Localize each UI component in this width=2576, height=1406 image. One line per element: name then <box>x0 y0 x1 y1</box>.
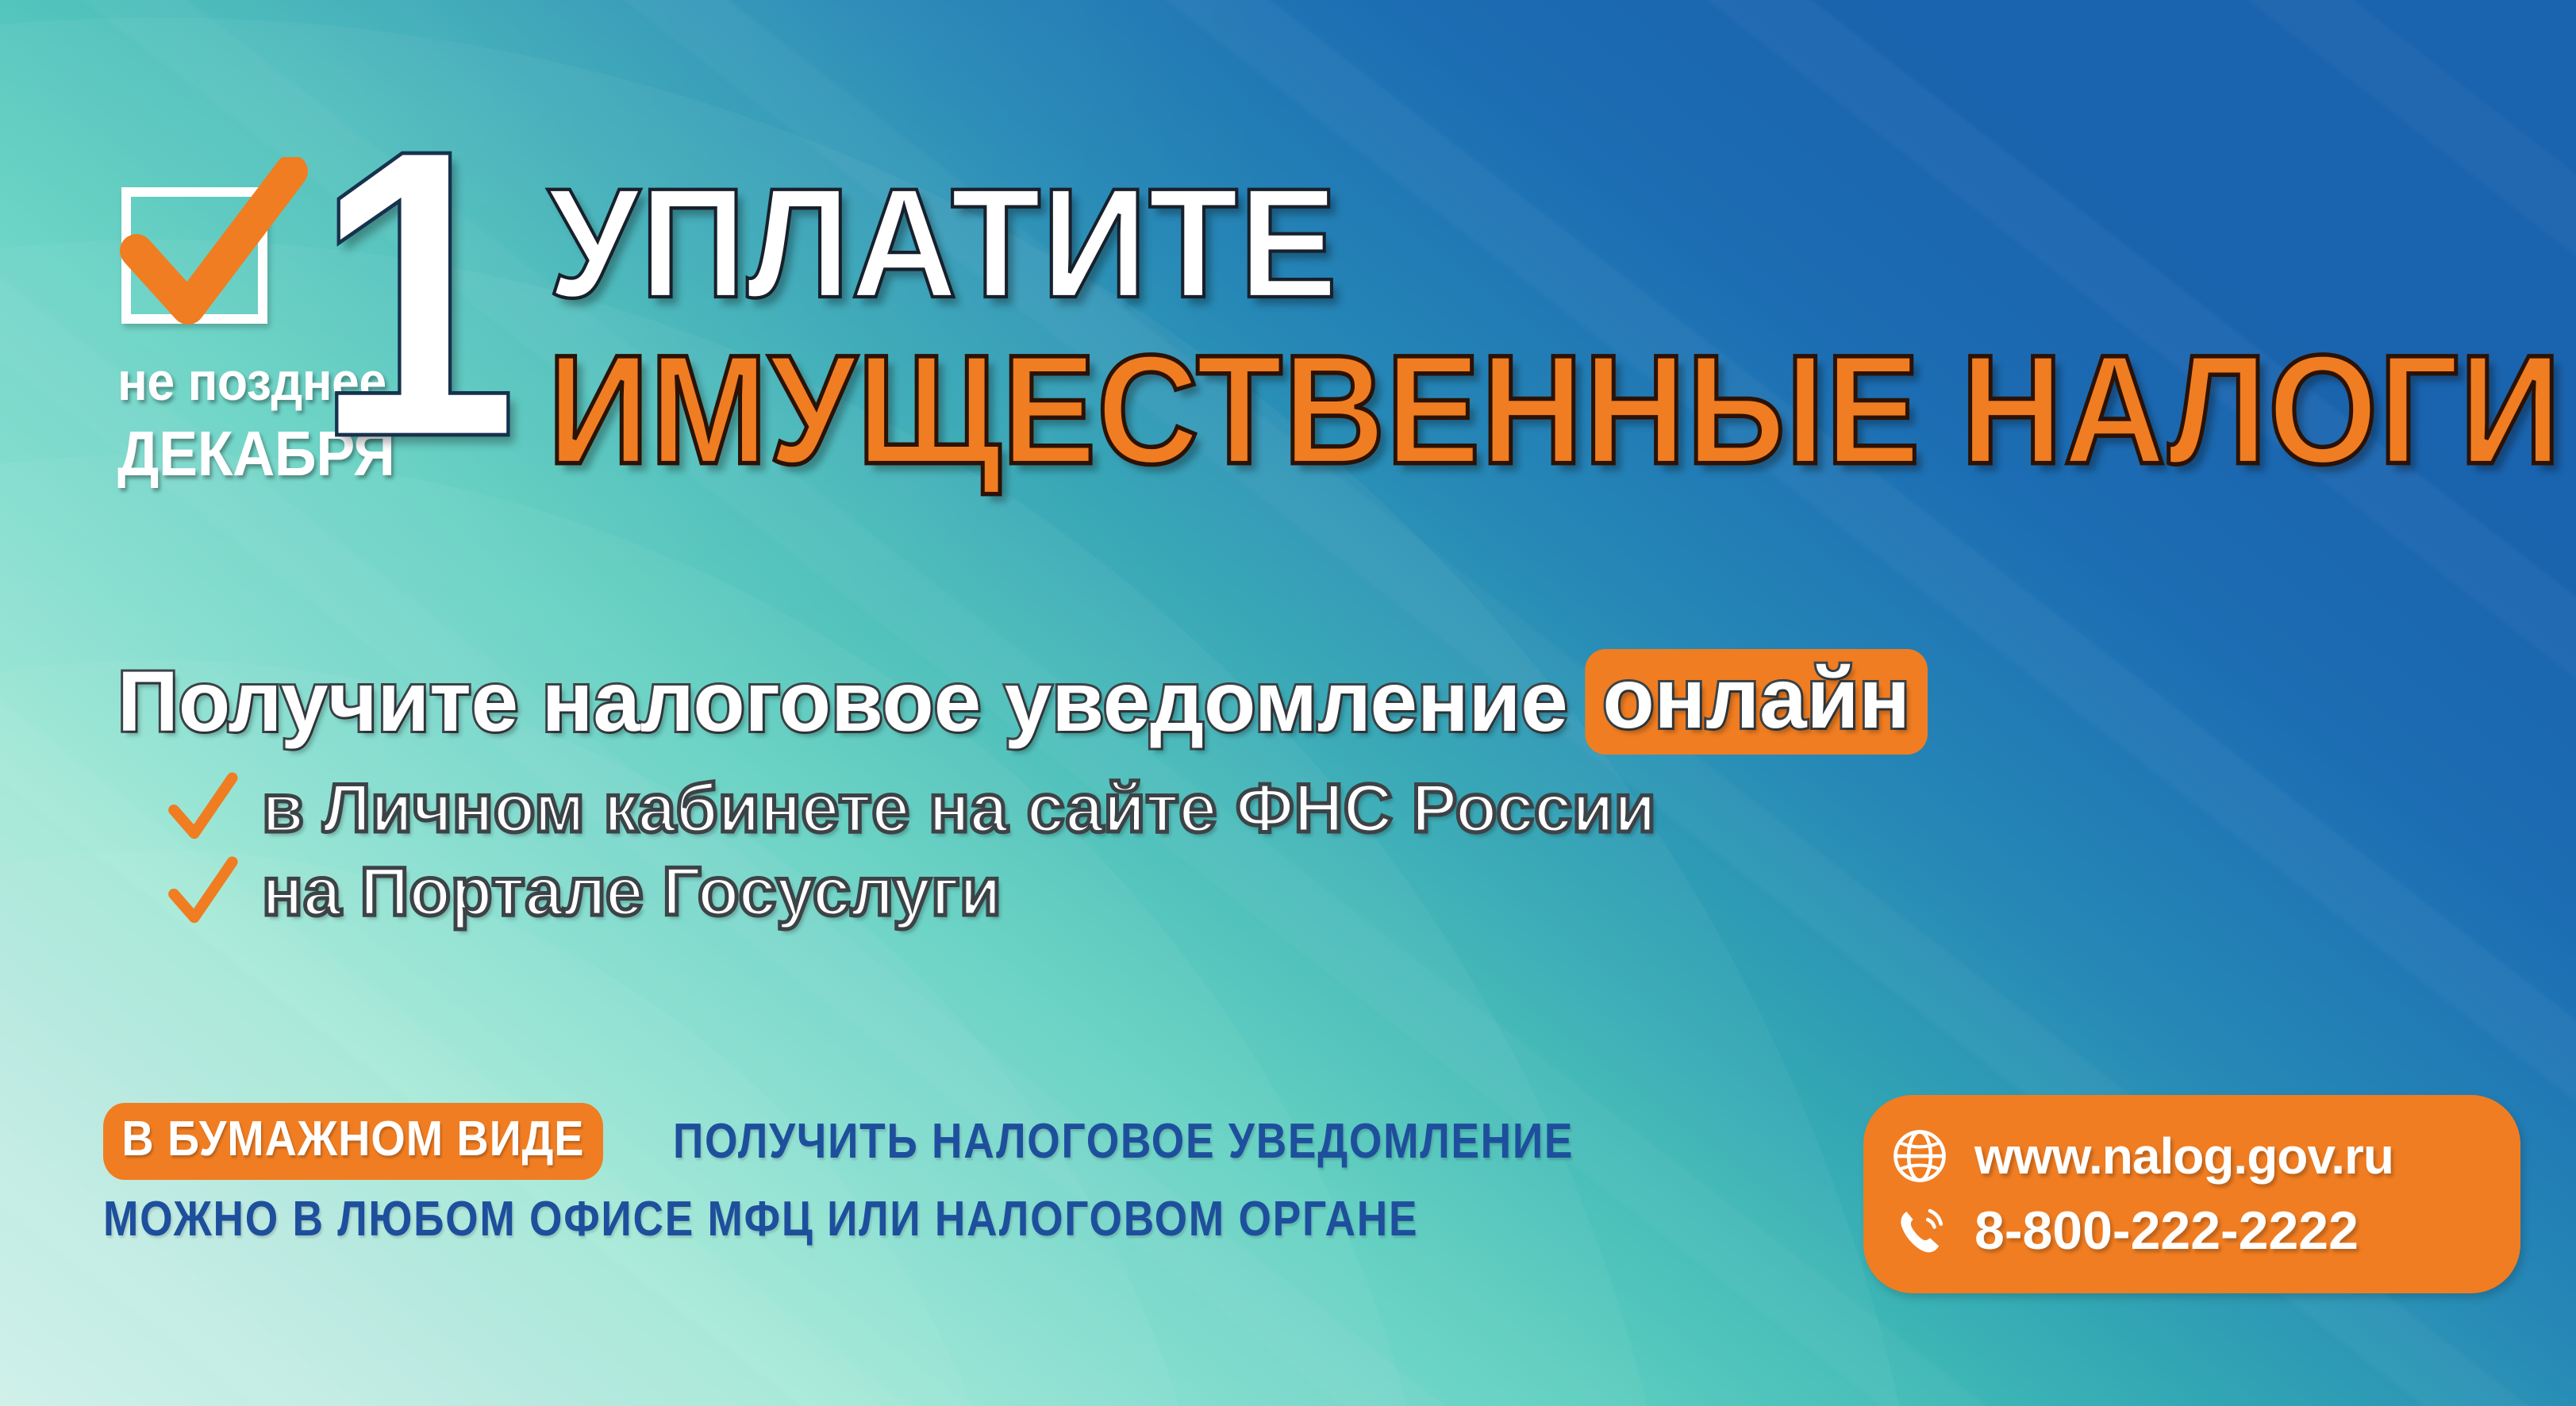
headline-line-property-taxes: ИМУЩЕСТВЕННЫЕ НАЛОГИ <box>548 336 2562 485</box>
orange-checkmark-icon <box>113 157 311 332</box>
headline-block: УПЛАТИТЕ ИМУЩЕСТВЕННЫЕ НАЛОГИ <box>548 168 2562 471</box>
list-item: в Личном кабинете на сайте ФНС России <box>165 769 1946 849</box>
check-icon <box>165 772 238 845</box>
contact-website-row[interactable]: www.nalog.gov.ru <box>1890 1127 2493 1185</box>
check-icon <box>165 856 238 929</box>
online-badge: онлайн <box>1586 649 1928 755</box>
contact-phone-row[interactable]: 8-800-222-2222 <box>1890 1200 2493 1262</box>
list-item-label: на Портале Госуслуги <box>262 852 1002 932</box>
list-item-label: в Личном кабинете на сайте ФНС России <box>262 769 1656 849</box>
contact-phone-label: 8-800-222-2222 <box>1974 1200 2359 1262</box>
online-channels-list: в Личном кабинете на сайте ФНС России на… <box>165 769 1946 933</box>
paper-form-badge: В БУМАЖНОМ ВИДЕ <box>103 1103 603 1180</box>
online-notice-lead-text: Получите налоговое уведомление <box>117 655 1568 748</box>
phone-call-icon <box>1890 1201 1949 1260</box>
list-item: на Портале Госуслуги <box>165 852 1946 932</box>
contact-website-label: www.nalog.gov.ru <box>1974 1127 2393 1185</box>
online-notice-block: Получите налоговое уведомление онлайн в … <box>117 649 1946 933</box>
tax-payment-poster: не позднее ДЕКАБРЯ 1 УПЛАТИТЕ ИМУЩЕСТВЕН… <box>0 0 2576 1406</box>
deadline-month-number: 1 <box>313 135 518 454</box>
paper-notice-line-2: МОЖНО В ЛЮБОМ ОФИСЕ МФЦ ИЛИ НАЛОГОВОМ ОР… <box>103 1191 1418 1247</box>
paper-notice-block: В БУМАЖНОМ ВИДЕ ПОЛУЧИТЬ НАЛОГОВОЕ УВЕДО… <box>103 1103 1721 1247</box>
globe-icon <box>1890 1127 1949 1185</box>
checkbox-checked-icon <box>117 187 268 328</box>
paper-notice-line-1: ПОЛУЧИТЬ НАЛОГОВОЕ УВЕДОМЛЕНИЕ <box>673 1113 1574 1170</box>
online-notice-lead: Получите налоговое уведомление онлайн <box>117 649 1928 755</box>
contact-box: www.nalog.gov.ru 8-800-222-2222 <box>1863 1095 2520 1293</box>
paper-notice-row-2: МОЖНО В ЛЮБОМ ОФИСЕ МФЦ ИЛИ НАЛОГОВОМ ОР… <box>103 1191 1721 1247</box>
headline-line-pay: УПЛАТИТЕ <box>548 168 2576 318</box>
paper-notice-row-1: В БУМАЖНОМ ВИДЕ ПОЛУЧИТЬ НАЛОГОВОЕ УВЕДО… <box>103 1103 1721 1180</box>
